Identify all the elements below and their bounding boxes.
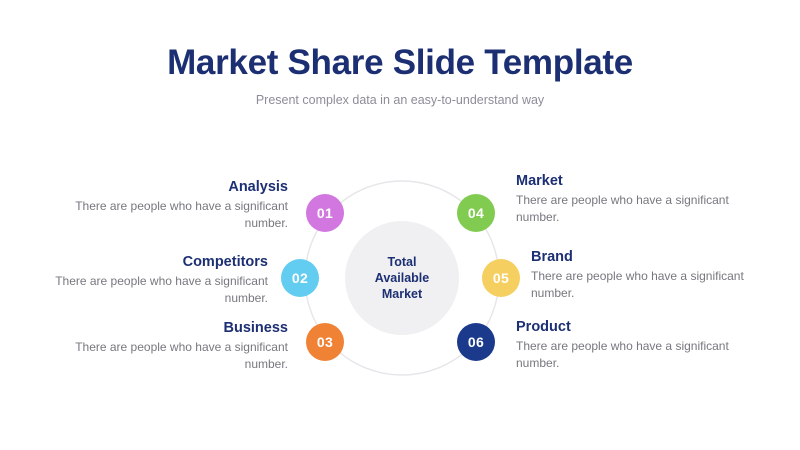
bubble-03[interactable]: 03 [306,323,344,361]
item-description-analysis: There are people who have a significant … [52,198,288,231]
bubble-02[interactable]: 02 [281,259,319,297]
bubble-05[interactable]: 05 [482,259,520,297]
item-block-market: Market There are people who have a signi… [516,172,752,225]
item-title-product: Product [516,318,752,336]
item-title-brand: Brand [531,248,767,266]
item-block-analysis: Analysis There are people who have a sig… [52,178,288,231]
item-description-competitors: There are people who have a significant … [32,273,268,306]
item-block-brand: Brand There are people who have a signif… [531,248,767,301]
item-description-product: There are people who have a significant … [516,338,752,371]
slide-canvas: Market Share Slide Template Present comp… [0,0,800,450]
item-title-competitors: Competitors [32,253,268,271]
bubble-number-01: 01 [317,205,333,221]
bubble-06[interactable]: 06 [457,323,495,361]
item-description-market: There are people who have a significant … [516,192,752,225]
item-block-business: Business There are people who have a sig… [52,319,288,372]
item-block-competitors: Competitors There are people who have a … [32,253,268,306]
item-title-business: Business [52,319,288,337]
item-block-product: Product There are people who have a sign… [516,318,752,371]
item-description-business: There are people who have a significant … [52,339,288,372]
bubble-number-04: 04 [468,205,484,221]
bubble-number-02: 02 [292,270,308,286]
item-title-analysis: Analysis [52,178,288,196]
center-hub-label: Total Available Market [375,254,429,302]
item-title-market: Market [516,172,752,190]
bubble-01[interactable]: 01 [306,194,344,232]
bubble-number-06: 06 [468,334,484,350]
market-share-diagram: Total Available Market 01 02 03 04 05 06… [0,0,800,450]
bubble-number-03: 03 [317,334,333,350]
item-description-brand: There are people who have a significant … [531,268,767,301]
center-hub-circle: Total Available Market [345,221,459,335]
bubble-number-05: 05 [493,270,509,286]
bubble-04[interactable]: 04 [457,194,495,232]
